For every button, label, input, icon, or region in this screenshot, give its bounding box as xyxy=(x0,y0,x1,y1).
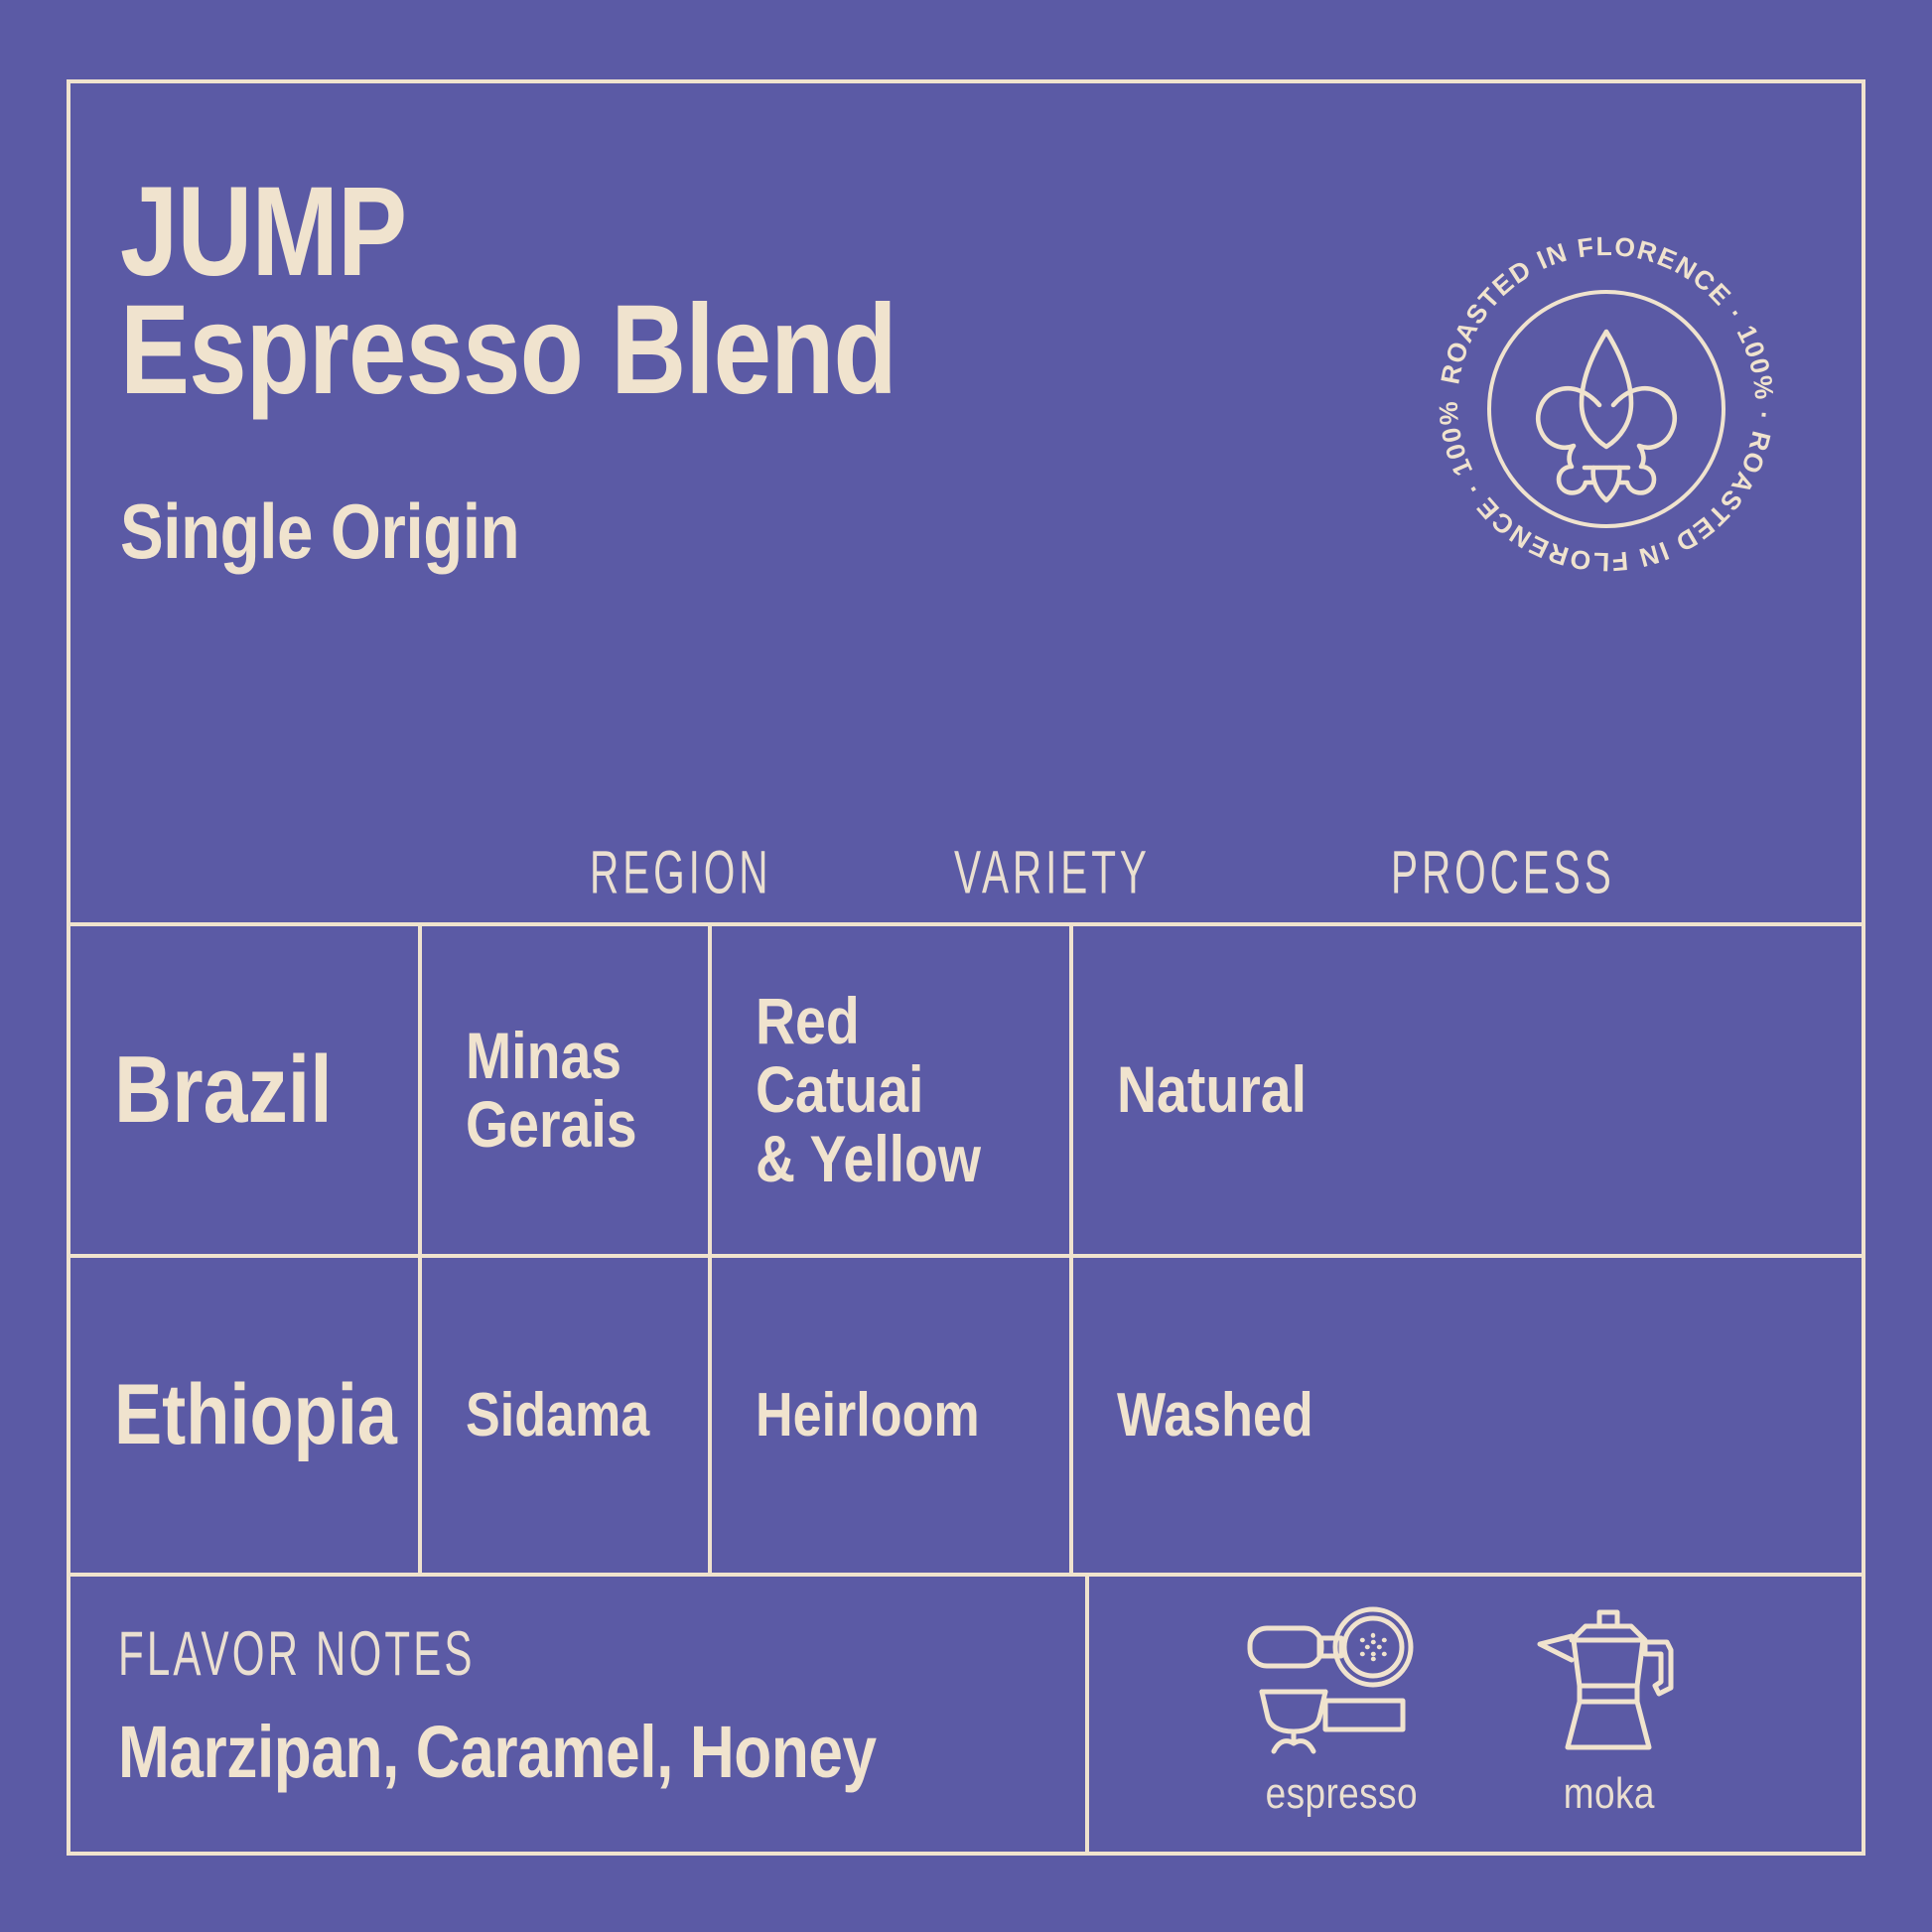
coffee-label-card: JUMP Espresso Blend Single Origin ROASTE… xyxy=(67,79,1865,1856)
brew-method-label: espresso xyxy=(1265,1769,1417,1819)
brew-method-espresso: espresso xyxy=(1244,1606,1439,1819)
page-title: JUMP Espresso Blend xyxy=(120,173,897,409)
label-header: JUMP Espresso Blend Single Origin ROASTE… xyxy=(70,83,1862,922)
table-column-headers: REGION VARIETY PROCESS xyxy=(70,838,1862,923)
fleur-de-lis-icon xyxy=(1538,332,1674,500)
region-line-1: Minas xyxy=(466,1019,621,1092)
column-header-region: REGION xyxy=(590,838,771,908)
variety-line-1: Red Catuai xyxy=(756,984,923,1126)
origin-name: Ethiopia xyxy=(114,1370,397,1459)
cell-origin: Ethiopia xyxy=(70,1258,418,1573)
variety-value: Heirloom xyxy=(756,1383,980,1448)
brew-methods-block: espresso xyxy=(1085,1577,1862,1856)
origin-name: Brazil xyxy=(114,1040,333,1141)
cell-variety: Red Catuai & Yellow xyxy=(708,926,1069,1254)
cell-process: Washed xyxy=(1069,1258,1862,1573)
product-name: Espresso Blend xyxy=(120,291,897,409)
portafilter-icon xyxy=(1244,1606,1439,1755)
cell-process: Natural xyxy=(1069,926,1862,1254)
cell-region: Minas Gerais xyxy=(418,926,708,1254)
label-footer: FLAVOR NOTES Marzipan, Caramel, Honey xyxy=(70,1573,1862,1856)
column-header-variety: VARIETY xyxy=(954,838,1151,908)
process-value: Washed xyxy=(1117,1383,1313,1448)
process-value: Natural xyxy=(1117,1055,1307,1124)
cell-region: Sidama xyxy=(418,1258,708,1573)
brew-method-label: moka xyxy=(1564,1769,1655,1819)
table-row: Ethiopia Sidama Heirloom Washed xyxy=(70,1254,1862,1573)
region-line-2: Gerais xyxy=(466,1087,637,1161)
variety-value: Red Catuai & Yellow xyxy=(756,987,1019,1193)
cell-variety: Heirloom xyxy=(708,1258,1069,1573)
origins-table: Brazil Minas Gerais Red Catuai & Yellow … xyxy=(70,922,1862,1573)
flavor-notes-value: Marzipan, Caramel, Honey xyxy=(118,1710,930,1794)
brew-method-moka: moka xyxy=(1512,1606,1707,1819)
roasted-in-florence-badge: ROASTED IN FLORENCE · 100% · ROASTED IN … xyxy=(1423,220,1790,588)
table-row: Brazil Minas Gerais Red Catuai & Yellow … xyxy=(70,926,1862,1254)
variety-line-2: & Yellow xyxy=(756,1122,981,1195)
badge-inner-circle xyxy=(1489,292,1724,526)
moka-pot-icon xyxy=(1512,1606,1707,1755)
column-header-process: PROCESS xyxy=(1391,838,1615,908)
region-value: Sidama xyxy=(466,1383,649,1448)
flavor-notes-heading: FLAVOR NOTES xyxy=(118,1618,873,1690)
product-subtitle: Single Origin xyxy=(120,492,519,570)
region-value: Minas Gerais xyxy=(466,1022,637,1160)
badge-ring-textpath: ROASTED IN FLORENCE · 100% · ROASTED IN … xyxy=(1423,220,1779,577)
badge-ring-text: ROASTED IN FLORENCE · 100% · ROASTED IN … xyxy=(1423,220,1779,577)
cell-origin: Brazil xyxy=(70,926,418,1254)
flavor-notes-block: FLAVOR NOTES Marzipan, Caramel, Honey xyxy=(70,1577,1085,1856)
